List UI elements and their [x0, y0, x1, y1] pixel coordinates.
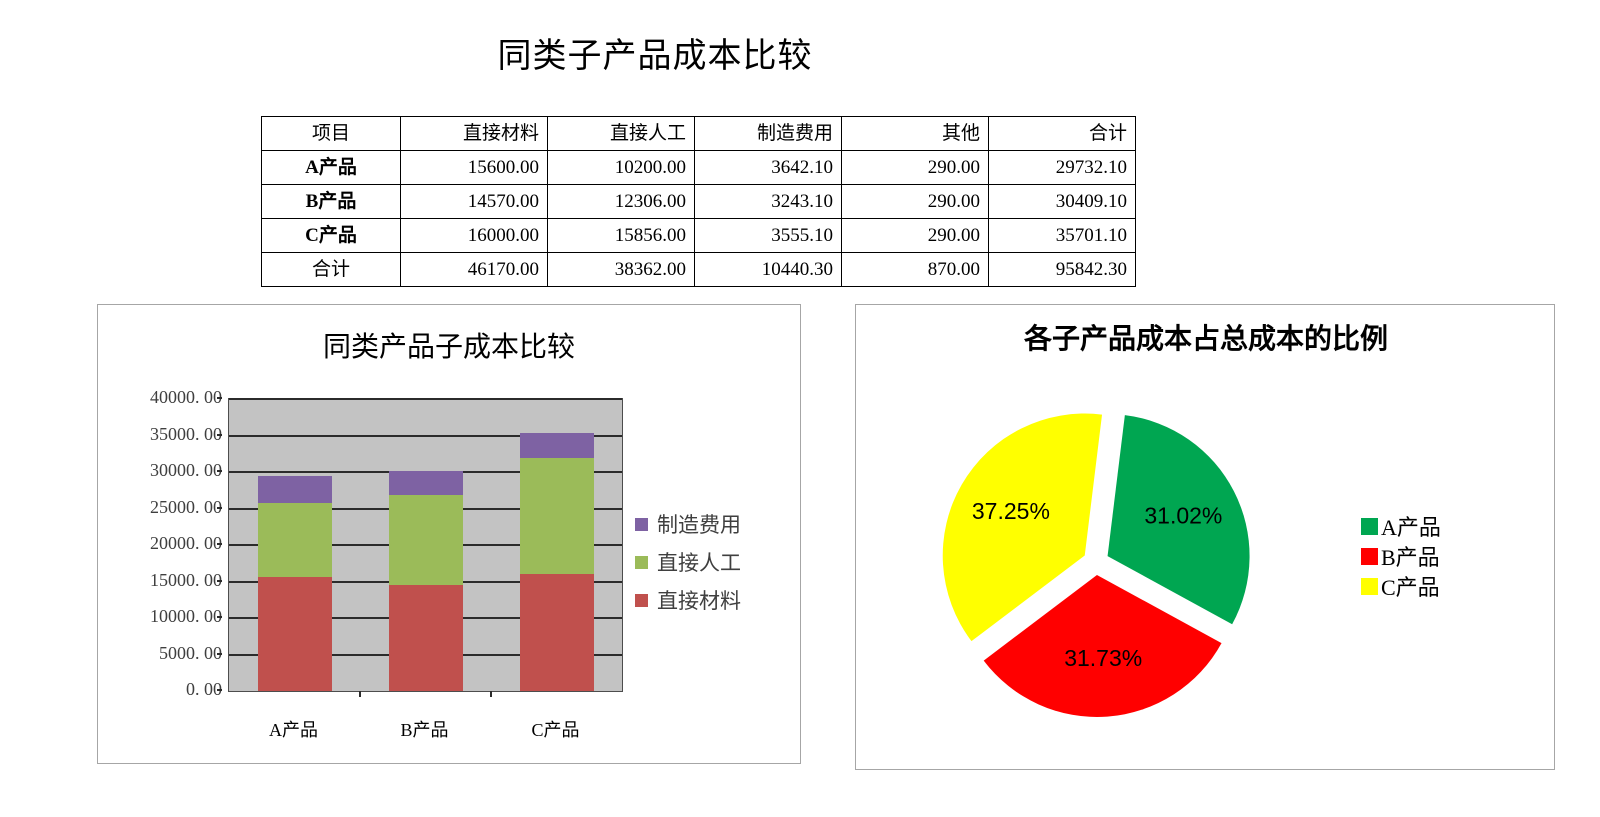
y-axis-tick-mark [217, 507, 222, 509]
bar-chart-title: 同类产品子成本比较 [98, 325, 800, 365]
pie-slice-percent-label: 31.02% [1144, 502, 1222, 528]
legend-item-label: C产品 [1381, 570, 1440, 602]
table-row: C产品 16000.00 15856.00 3555.10 290.00 357… [262, 219, 1136, 253]
x-axis-category-label: C产品 [496, 716, 616, 742]
x-axis-category-label: B产品 [365, 716, 485, 742]
bar-group[interactable] [520, 399, 594, 691]
y-axis-tick-mark [217, 470, 222, 472]
x-axis-category-label: A产品 [234, 716, 354, 742]
legend-item-label: B产品 [1381, 540, 1440, 572]
y-axis-tick-mark [217, 397, 222, 399]
table-cell: 38362.00 [548, 253, 695, 287]
bar-segment[interactable] [258, 476, 332, 503]
x-axis-tick-mark [359, 691, 361, 697]
pie-chart-legend: A产品B产品C产品 [1361, 511, 1531, 601]
pie-slice-percent-label: 37.25% [972, 498, 1050, 524]
table-cell: 12306.00 [548, 185, 695, 219]
legend-item-label: 制造费用 [657, 509, 741, 539]
table-cell: 290.00 [842, 185, 989, 219]
table-row: A产品 15600.00 10200.00 3642.10 290.00 297… [262, 151, 1136, 185]
y-axis-tick-mark [217, 434, 222, 436]
table-row: B产品 14570.00 12306.00 3243.10 290.00 304… [262, 185, 1136, 219]
bar-segment[interactable] [258, 577, 332, 691]
table-cell: 16000.00 [401, 219, 548, 253]
table-header-cell: 项目 [262, 117, 401, 151]
legend-color-swatch-icon [635, 518, 648, 531]
legend-color-swatch-icon [635, 594, 648, 607]
table-total-row: 合计 46170.00 38362.00 10440.30 870.00 958… [262, 253, 1136, 287]
table-header-row: 项目 直接材料 直接人工 制造费用 其他 合计 [262, 117, 1136, 151]
cost-comparison-table: 项目 直接材料 直接人工 制造费用 其他 合计 A产品 15600.00 102… [261, 116, 1136, 287]
table-header-cell: 其他 [842, 117, 989, 151]
legend-item[interactable]: C产品 [1361, 571, 1531, 601]
y-axis-tick-label: 0. 00 [102, 679, 222, 700]
pie-chart-svg: 31.02%31.73%37.25% [886, 397, 1306, 727]
legend-item[interactable]: A产品 [1361, 511, 1531, 541]
page-title: 同类子产品成本比较 [0, 28, 1310, 77]
bar-segment[interactable] [520, 433, 594, 459]
y-axis-tick-label: 25000. 00 [102, 497, 222, 518]
table-header-cell: 合计 [989, 117, 1136, 151]
table-header-cell: 直接人工 [548, 117, 695, 151]
y-axis-tick-mark [217, 689, 222, 691]
y-axis-tick-label: 20000. 00 [102, 533, 222, 554]
y-axis-tick-mark [217, 653, 222, 655]
legend-item-label: A产品 [1381, 510, 1441, 542]
bar-segment[interactable] [389, 585, 463, 691]
table-cell: 29732.10 [989, 151, 1136, 185]
table-cell: 30409.10 [989, 185, 1136, 219]
table-cell: 10440.30 [695, 253, 842, 287]
table-header-cell: 直接材料 [401, 117, 548, 151]
pie-chart-container[interactable]: 各子产品成本占总成本的比例 31.02%31.73%37.25% A产品B产品C… [855, 304, 1555, 770]
pie-chart-plot-area: 31.02%31.73%37.25% [886, 397, 1306, 727]
y-axis-tick-mark [217, 543, 222, 545]
table-row-label: B产品 [262, 185, 401, 219]
pie-chart-title: 各子产品成本占总成本的比例 [916, 323, 1496, 358]
table-cell: 290.00 [842, 219, 989, 253]
table-row-label: 合计 [262, 253, 401, 287]
table-cell: 870.00 [842, 253, 989, 287]
legend-item[interactable]: 制造费用 [635, 505, 785, 543]
table-cell: 15600.00 [401, 151, 548, 185]
y-axis-tick-label: 30000. 00 [102, 460, 222, 481]
table-cell: 3243.10 [695, 185, 842, 219]
table-cell: 15856.00 [548, 219, 695, 253]
legend-color-swatch-icon [1361, 518, 1378, 535]
legend-item[interactable]: 直接人工 [635, 543, 785, 581]
y-axis-tick-label: 5000. 00 [102, 643, 222, 664]
legend-item[interactable]: 直接材料 [635, 581, 785, 619]
y-axis-tick-mark [217, 580, 222, 582]
bar-group[interactable] [389, 399, 463, 691]
y-axis-tick-mark [217, 616, 222, 618]
bar-segment[interactable] [389, 471, 463, 495]
y-axis-tick-label: 35000. 00 [102, 424, 222, 445]
table-cell: 46170.00 [401, 253, 548, 287]
legend-color-swatch-icon [1361, 548, 1378, 565]
table-header-cell: 制造费用 [695, 117, 842, 151]
legend-item-label: 直接材料 [657, 585, 741, 615]
x-axis-tick-mark [490, 691, 492, 697]
bar-chart-container[interactable]: 同类产品子成本比较 0. 005000. 0010000. 0015000. 0… [97, 304, 801, 764]
legend-color-swatch-icon [1361, 578, 1378, 595]
table-row-label: A产品 [262, 151, 401, 185]
bar-group[interactable] [258, 399, 332, 691]
bar-chart-plot-area [228, 398, 623, 692]
bar-segment[interactable] [520, 458, 594, 574]
table-cell: 3555.10 [695, 219, 842, 253]
bar-segment[interactable] [389, 495, 463, 585]
legend-item[interactable]: B产品 [1361, 541, 1531, 571]
legend-color-swatch-icon [635, 556, 648, 569]
bar-segment[interactable] [520, 574, 594, 691]
table-cell: 95842.30 [989, 253, 1136, 287]
table-cell: 14570.00 [401, 185, 548, 219]
table-cell: 3642.10 [695, 151, 842, 185]
table-cell: 290.00 [842, 151, 989, 185]
y-axis-tick-label: 15000. 00 [102, 570, 222, 591]
bar-segment[interactable] [258, 503, 332, 577]
pie-slice-percent-label: 31.73% [1064, 645, 1142, 671]
bar-chart-legend: 制造费用直接人工直接材料 [635, 505, 785, 619]
legend-item-label: 直接人工 [657, 547, 741, 577]
y-axis-tick-label: 10000. 00 [102, 606, 222, 627]
table-row-label: C产品 [262, 219, 401, 253]
y-axis-tick-label: 40000. 00 [102, 387, 222, 408]
table-cell: 35701.10 [989, 219, 1136, 253]
bar-chart-y-axis: 0. 005000. 0010000. 0015000. 0020000. 00… [92, 398, 222, 692]
table-cell: 10200.00 [548, 151, 695, 185]
